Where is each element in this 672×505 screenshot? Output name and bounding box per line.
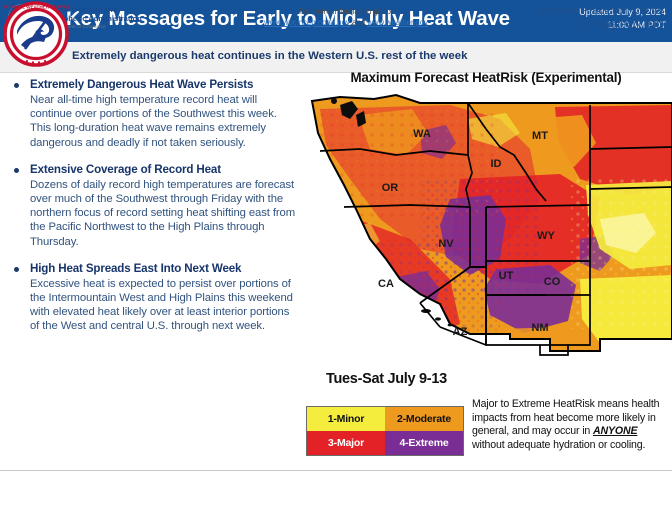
state-label-co: CO (544, 276, 561, 288)
bullet-heading: Extremely Dangerous Heat Wave Persists (30, 78, 300, 92)
list-item: Extremely Dangerous Heat Wave Persists N… (0, 78, 300, 150)
bullet-body: Dozens of daily record high temperatures… (30, 178, 300, 249)
state-label-az: AZ (453, 326, 468, 338)
state-label-nm: NM (531, 322, 548, 334)
disclaimer-emphasis: ANYONE (593, 425, 637, 437)
bullet-dot-icon (14, 267, 19, 272)
office-location: College Park, MD (539, 19, 664, 33)
legend-item-moderate: 2-Moderate (385, 407, 463, 431)
list-item: Extensive Coverage of Record Heat Dozens… (0, 163, 300, 249)
svg-text:NATIONAL WEATHER SERVICE: NATIONAL WEATHER SERVICE (3, 5, 69, 10)
legend-item-major: 3-Major (307, 431, 385, 455)
weather-gov-link[interactable]: www.weather.gov (367, 18, 428, 27)
link-conjunction: and (352, 18, 365, 27)
state-label-ca: CA (378, 278, 394, 290)
forecast-date-range: Tues-Sat July 9-13 (326, 371, 447, 387)
more-info-links: www.wpc.ncep.noaa.gov and www.weather.go… (236, 17, 456, 28)
disclaimer-part2: without adequate hydration or cooling. (472, 439, 645, 451)
heatrisk-map: WA OR ID MT WY NV UT CO CA AZ NM (300, 89, 672, 379)
bullet-heading: High Heat Spreads East Into Next Week (30, 262, 300, 276)
map-title: Maximum Forecast HeatRisk (Experimental) (300, 70, 672, 85)
legend-item-extreme: 4-Extreme (385, 431, 463, 455)
bullet-dot-icon (14, 83, 19, 88)
issuing-office: Weather Prediction Center College Park, … (539, 5, 664, 32)
list-item: High Heat Spreads East Into Next Week Ex… (0, 262, 300, 334)
state-label-ut: UT (499, 270, 514, 282)
bullet-dot-icon (14, 168, 19, 173)
state-label-nv: NV (438, 238, 454, 250)
subtitle-text: Extremely dangerous heat continues in th… (72, 50, 467, 62)
bullet-body: Near all-time high temperature record he… (30, 93, 300, 150)
more-info-block: For more information go to: www.wpc.ncep… (236, 6, 456, 28)
office-name: Weather Prediction Center (539, 5, 664, 19)
wpc-link[interactable]: www.wpc.ncep.noaa.gov (264, 18, 350, 27)
bullet-body: Excessive heat is expected to persist ov… (30, 277, 300, 334)
nws-roundel-icon: NATIONAL WEATHER SERVICE (3, 1, 69, 67)
state-label-mt: MT (532, 130, 548, 142)
legend-item-minor: 1-Minor (307, 407, 385, 431)
more-info-label: For more information go to: (236, 6, 456, 17)
key-messages-list: Extremely Dangerous Heat Wave Persists N… (0, 78, 300, 347)
footer-bar (0, 470, 672, 505)
key-messages-graphic: NATIONAL WEATHER SERVICE Key Messages fo… (0, 0, 672, 504)
state-label-id: ID (491, 158, 502, 170)
state-label-wa: WA (413, 128, 431, 140)
state-label-or: OR (382, 182, 399, 194)
heatrisk-disclaimer: Major to Extreme HeatRisk means health i… (472, 398, 668, 452)
heatrisk-legend: 1-Minor 2-Moderate 3-Major 4-Extreme (306, 406, 464, 456)
state-label-wy: WY (537, 230, 555, 242)
bullet-heading: Extensive Coverage of Record Heat (30, 163, 300, 177)
map-panel: Maximum Forecast HeatRisk (Experimental) (300, 70, 672, 400)
